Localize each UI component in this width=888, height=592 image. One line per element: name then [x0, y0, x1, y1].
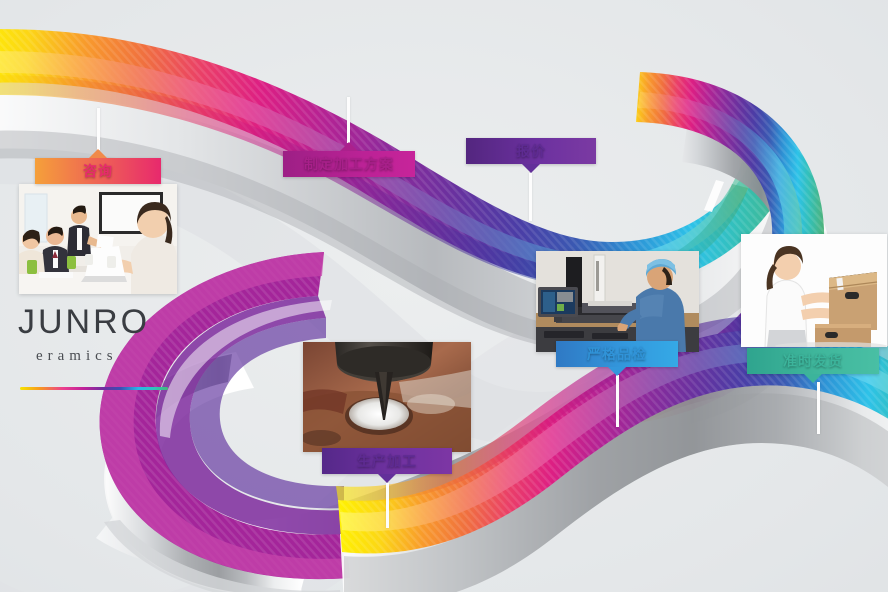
step-label-delivery[interactable]: 准时发货 [747, 348, 879, 374]
step-label-plan-text: 制定加工方案 [304, 154, 394, 174]
leader-line-production [386, 483, 389, 528]
step-label-consult[interactable]: 咨询 [35, 158, 161, 184]
pointer-down-icon [522, 164, 540, 173]
leader-line-quote [529, 173, 532, 221]
step-label-production-text: 生产加工 [357, 451, 417, 471]
leader-line-consult [97, 108, 100, 150]
pointer-down-icon [378, 474, 396, 483]
pointer-up-icon [89, 149, 107, 158]
step-label-production[interactable]: 生产加工 [322, 448, 452, 474]
logo-tagline: eramics [36, 348, 208, 365]
logo-name: JUNRO [18, 305, 208, 339]
logo-gradient-rule [20, 387, 168, 390]
leader-line-inspection [616, 375, 619, 427]
packing-shipping-photo [741, 234, 887, 347]
pointer-down-icon [608, 367, 626, 376]
step-label-inspection[interactable]: 严格品检 [556, 341, 678, 367]
leader-line-plan [347, 97, 350, 143]
step-label-quote-text: 报价 [516, 141, 546, 161]
pointer-down-icon [804, 374, 822, 383]
leader-line-delivery [817, 382, 820, 434]
step-label-delivery-text: 准时发货 [783, 351, 843, 371]
pointer-up-icon [340, 142, 358, 151]
step-label-quote[interactable]: 报价 [466, 138, 596, 164]
quality-inspection-photo [536, 251, 699, 352]
step-label-consult-text: 咨询 [83, 161, 113, 181]
infographic-canvas: JUNRO eramics [0, 0, 888, 592]
brand-logo: JUNRO eramics [18, 305, 208, 390]
step-label-plan[interactable]: 制定加工方案 [283, 151, 415, 177]
cnc-machining-photo [303, 342, 471, 452]
consultation-meeting-photo [19, 184, 177, 294]
step-label-inspection-text: 严格品检 [587, 344, 647, 364]
